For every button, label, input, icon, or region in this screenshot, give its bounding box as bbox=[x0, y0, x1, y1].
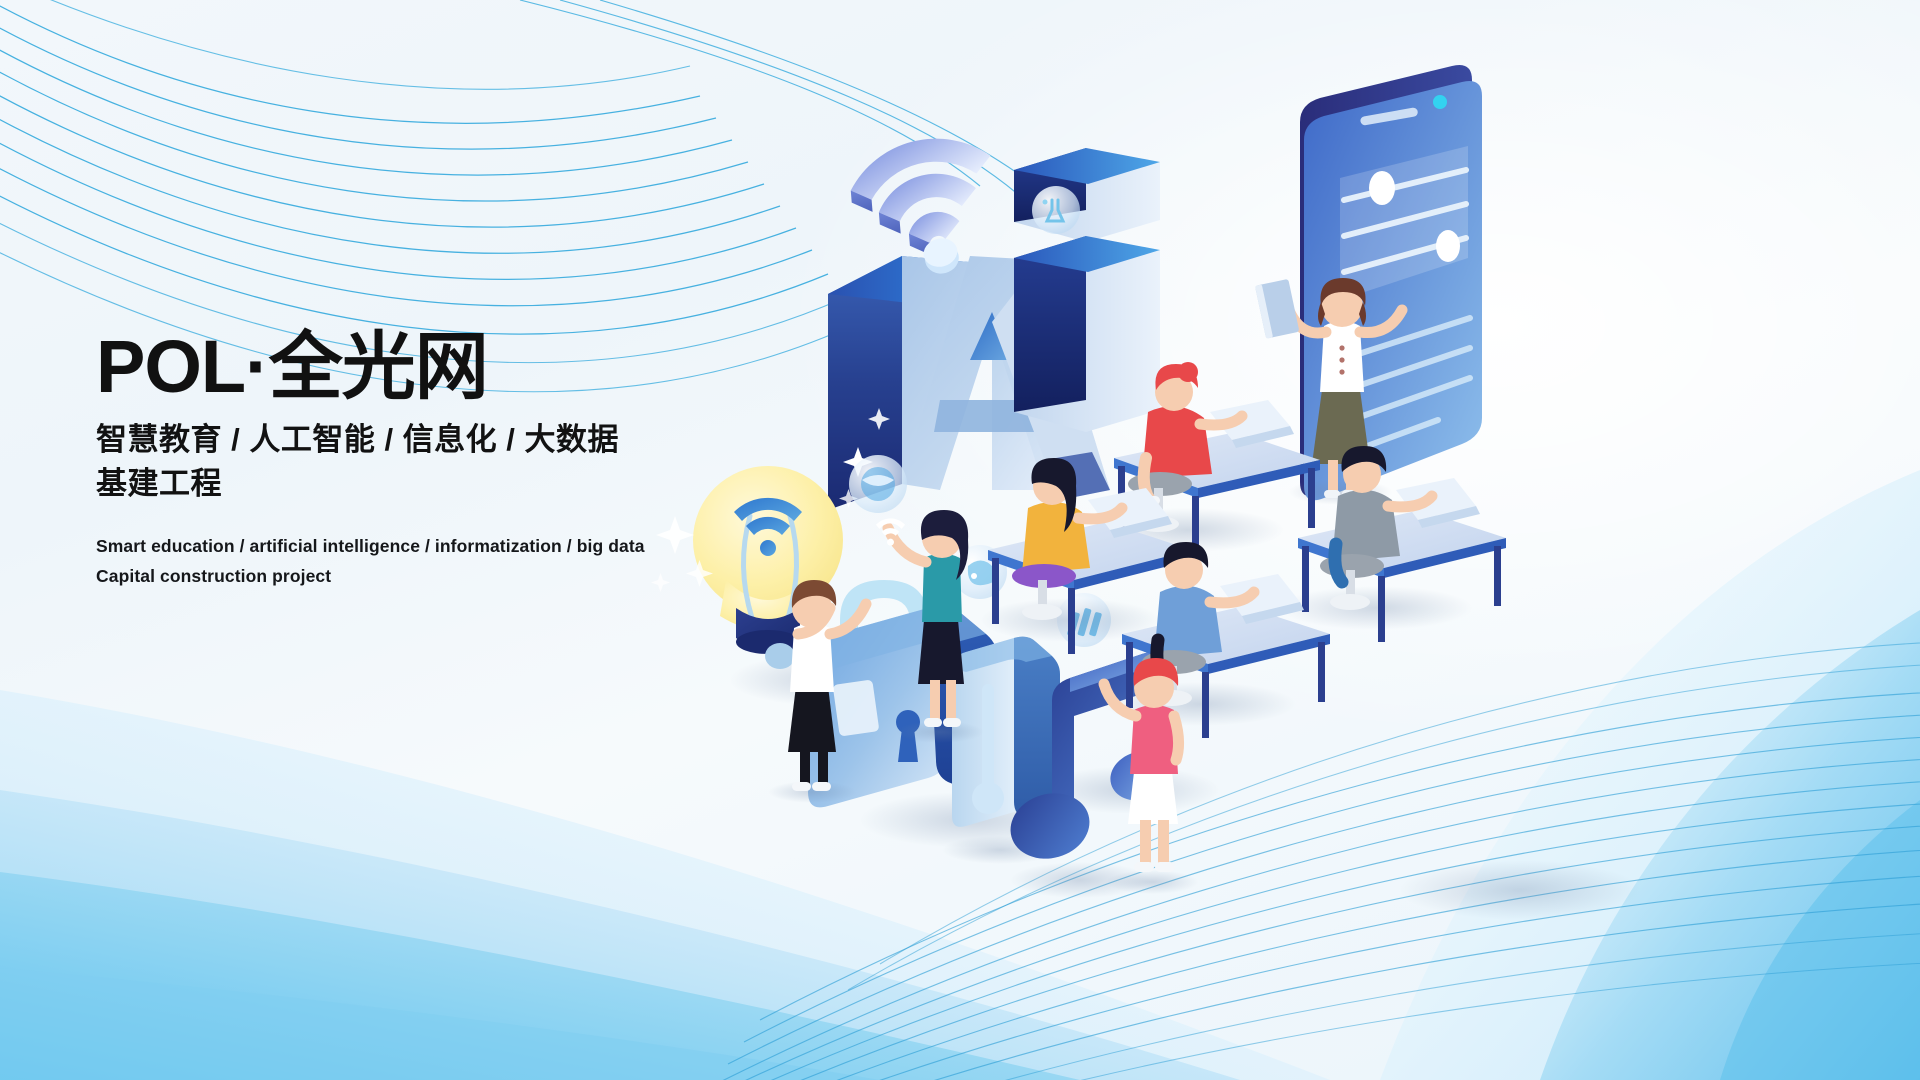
flask-bubble-icon bbox=[1032, 186, 1080, 234]
3d-letter-i bbox=[1014, 148, 1160, 432]
globe-bubble-icon bbox=[849, 455, 907, 513]
banner-canvas: POL·全光网 智慧教育 / 人工智能 / 信息化 / 大数据 基建工程 Sma… bbox=[0, 0, 1920, 1080]
smart-classroom-illustration bbox=[640, 60, 1920, 1020]
